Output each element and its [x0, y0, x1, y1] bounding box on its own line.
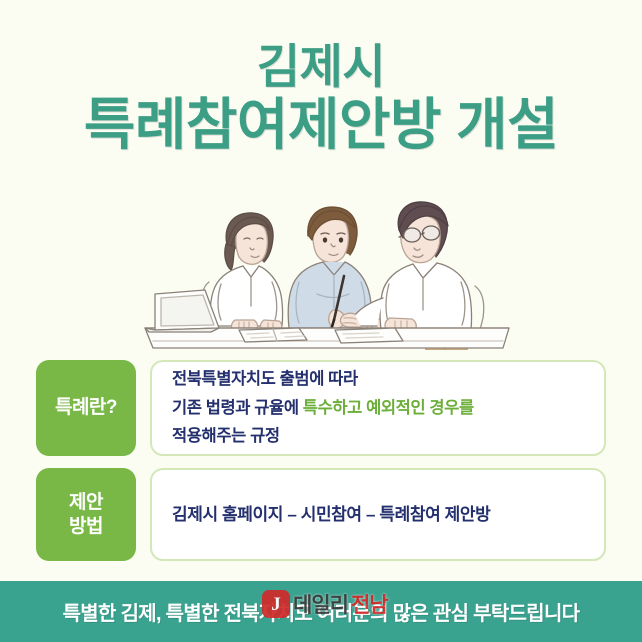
info-row-method: 제안 방법 김제시 홈페이지 – 시민참여 – 특례참여 제안방	[36, 468, 606, 561]
row-label-method: 제안 방법	[36, 468, 136, 561]
page-title: 김제시 특례참여제안방 개설	[0, 42, 642, 155]
title-line-2: 특례참여제안방 개설	[0, 95, 642, 155]
content-line: 기존 법령과 규율에 특수하고 예외적인 경우를	[172, 394, 604, 422]
content-segment: 적용해주는 규정	[172, 427, 280, 445]
content-segment-highlight: 특수하고 예외적인 경우를	[303, 399, 474, 417]
row-label-line: 특례란?	[55, 396, 117, 420]
watermark-word-jeonnam: 전남	[351, 589, 388, 619]
info-row-definition: 특례란? 전북특별자치도 출범에 따라 기존 법령과 규율에 특수하고 예외적인…	[36, 360, 606, 456]
content-segment: 전북특별자치도 출범에 따라	[172, 370, 358, 388]
content-line: 김제시 홈페이지 – 시민참여 – 특례참여 제안방	[172, 500, 604, 529]
poster-root: 김제시 특례참여제안방 개설	[0, 0, 642, 642]
row-content-method: 김제시 홈페이지 – 시민참여 – 특례참여 제안방	[150, 468, 606, 561]
content-segment: 김제시 홈페이지 – 시민참여 – 특례참여 제안방	[172, 505, 490, 524]
content-segment: 기존 법령과 규율에	[172, 399, 303, 417]
content-line: 전북특별자치도 출범에 따라	[172, 365, 604, 393]
row-label-line: 방법	[69, 515, 103, 539]
row-label-definition: 특례란?	[36, 360, 136, 456]
title-line-1: 김제시	[0, 42, 642, 93]
watermark-logo-icon: J	[262, 590, 290, 618]
row-content-definition: 전북특별자치도 출범에 따라 기존 법령과 규율에 특수하고 예외적인 경우를 …	[150, 360, 606, 456]
watermark-word-daily: 데일리	[293, 589, 348, 619]
watermark-daily-jeonnam: J 데일리 전남	[262, 589, 388, 619]
row-label-line: 제안	[69, 491, 103, 515]
content-line: 적용해주는 규정	[172, 422, 604, 450]
three-people-meeting-illustration	[131, 178, 521, 350]
watermark-logo-glyph: J	[271, 595, 281, 614]
